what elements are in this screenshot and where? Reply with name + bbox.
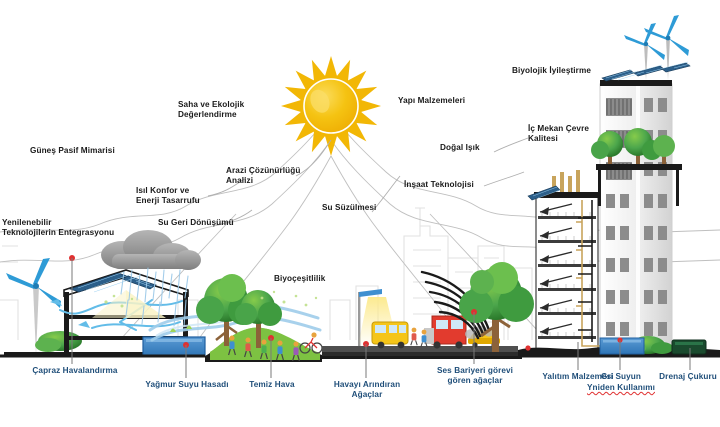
label-havayi-arindiran-agaclar: Havayı Arındıran Ağaçlar [318, 380, 416, 400]
drainage-pit [672, 340, 706, 354]
bus [372, 322, 408, 348]
label-biyocesitlilik: Biyoçeşitlilik [274, 274, 364, 284]
label-isil-konfor: Isıl Konfor ve Enerji Tasarrufu [136, 186, 248, 206]
label-insaat-teknolojisi: İnşaat Teknolojisi [404, 180, 508, 190]
label-yenilenebilir-teknolojiler: Yenilenebilir Teknolojilerin Entegrasyon… [2, 218, 150, 238]
label-su-geri-donusumu: Su Geri Dönüşümü [158, 218, 270, 228]
marker-dot-insulation [525, 345, 530, 350]
label-ic-mekan-cevre: İç Mekan Çevre Kalitesi [528, 124, 638, 144]
label-biyolojik-iyilestirme: Biyolojik İyileştirme [512, 66, 636, 76]
right-section-building [528, 170, 608, 356]
scene-illustration [0, 0, 720, 427]
label-su-suzulmesi: Su Süzülmesi [322, 203, 414, 213]
label-gunes-pasif-mimarisi: Güneş Pasif Mimarisi [30, 146, 160, 156]
label-ses-bariyeri: Ses Bariyeri görevi gören ağaçlar [420, 366, 530, 386]
label-gri-suyun-line2: Yniden Kullanımı [578, 383, 664, 393]
infographic-canvas: Güneş Pasif Mimarisi Yenilenebilir Tekno… [0, 0, 720, 427]
greywater-cistern [600, 337, 644, 354]
label-capraz-havalandirma: Çapraz Havalandırma [12, 366, 138, 376]
label-yapi-malzemeleri: Yapı Malzemeleri [398, 96, 506, 106]
right-tower [600, 80, 672, 356]
label-drenaj-cukuru: Drenaj Çukuru [644, 372, 720, 382]
label-yagmur-suyu-hasadi: Yağmur Suyu Hasadı [130, 380, 244, 390]
label-saha-ve-ekolojik: Saha ve Ekolojik Değerlendirme [178, 100, 290, 120]
label-dogal-isik: Doğal Işık [440, 143, 514, 153]
label-arazi-cozunurlugu: Arazi Çözünürlüğü Analizi [226, 166, 338, 186]
sun-icon [281, 56, 381, 156]
label-temiz-hava: Temiz Hava [234, 380, 310, 390]
